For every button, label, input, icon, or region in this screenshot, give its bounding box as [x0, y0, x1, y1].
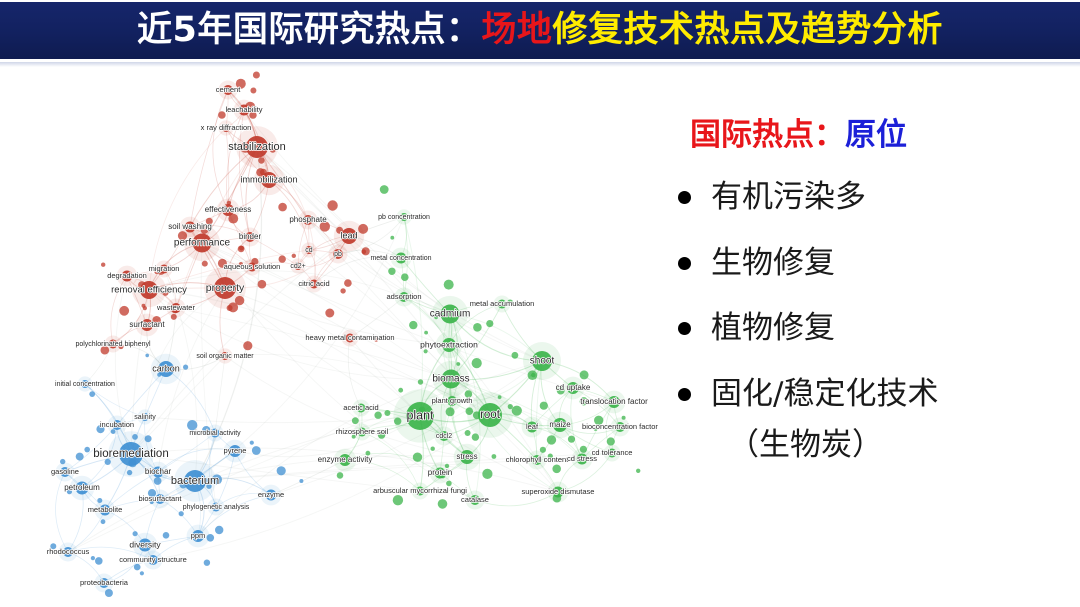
bullet-dot-icon: [678, 257, 691, 270]
network-node-minor: [388, 268, 395, 275]
bullet-label: 固化/稳定化技术: [711, 378, 938, 411]
network-node-label: community structure: [119, 555, 187, 564]
network-node-minor: [636, 469, 640, 473]
network-node-minor: [390, 236, 394, 240]
network-node-label: petroleum: [64, 483, 100, 492]
network-node-minor: [89, 391, 95, 397]
network-node-label: bioconcentration factor: [582, 422, 658, 431]
network-node-minor: [401, 273, 409, 281]
network-node-label: biochar: [145, 467, 172, 476]
network-node-minor: [444, 280, 454, 290]
network-node-minor: [344, 279, 352, 287]
network-node-label: rhizosphere soil: [336, 427, 389, 436]
network-node-label: bioremediation: [93, 448, 168, 460]
network-node-label: plant: [406, 408, 434, 422]
network-node-label: maize: [549, 420, 571, 429]
network-node-label: enzyme: [258, 490, 284, 499]
title-text: 近5年国际研究热点：场地修复技术热点及趋势分析: [137, 13, 943, 48]
network-node-minor: [580, 370, 589, 379]
network-node-minor: [179, 511, 184, 516]
network-node-label: effectiveness: [205, 205, 252, 214]
network-node-label: aqueous solution: [224, 262, 281, 271]
network-node-minor: [252, 446, 261, 455]
bullet-dot-icon: [678, 388, 691, 401]
network-node-label: stabilization: [228, 141, 285, 153]
network-node-label: salinity: [134, 414, 156, 421]
network-node-minor: [540, 402, 548, 410]
network-node-minor: [325, 309, 334, 318]
network-node-label: rhodococcus: [47, 547, 90, 556]
network-node-minor: [258, 280, 267, 289]
network-node-minor: [482, 469, 492, 479]
network-node-label: cd: [305, 247, 313, 254]
title-banner: 近5年国际研究热点：场地修复技术热点及趋势分析: [0, 0, 1080, 62]
network-node-label: arbuscular mycorrhizal fungi: [373, 486, 467, 495]
network-node-label: phytoextraction: [420, 339, 478, 349]
network-node-label: cadmium: [430, 309, 471, 320]
network-node-label: cd uptake: [556, 383, 591, 392]
keyword-network-map: cementleachabilityx ray diffractionstabi…: [20, 68, 680, 603]
network-node-minor: [337, 472, 344, 479]
network-node-label: ppm: [191, 531, 206, 540]
network-edge: [176, 308, 451, 379]
network-node-label: removal efficiency: [111, 285, 187, 296]
network-node-label: wastewater: [156, 303, 195, 312]
bullet-label: 植物修复: [711, 312, 835, 345]
network-node-label: cd2+: [290, 263, 305, 270]
network-node-label: gasoline: [51, 467, 79, 476]
network-node-minor: [438, 499, 448, 509]
network-node-label: microbial activity: [189, 430, 241, 437]
network-node-label: phylogenetic analysis: [183, 504, 250, 511]
network-node-minor: [134, 564, 141, 571]
hotspot-panel: 国际热点：原位 有机污染多 生物修复 植物修复 固化/稳定化技术 （生物炭）: [672, 120, 1072, 550]
network-node-label: cd tolerance: [592, 448, 633, 457]
bullet-label: 生物修复: [711, 247, 835, 280]
network-node-label: heavy metal contamination: [305, 333, 394, 342]
network-node-minor: [374, 412, 381, 419]
network-node-minor: [424, 349, 428, 353]
network-node-label: diversity: [129, 539, 161, 549]
network-node-label: cd stress: [567, 454, 597, 463]
network-node-minor: [362, 249, 367, 254]
network-node-minor: [202, 261, 208, 267]
title-segment-white: 近5年国际研究热点：: [137, 10, 481, 50]
network-node-minor: [607, 437, 615, 445]
banner-underline: [0, 62, 1080, 67]
bullet-label: 有机污染多: [711, 181, 866, 214]
network-node-label: leaf: [526, 422, 539, 431]
network-node-minor: [133, 531, 138, 536]
network-node-label: translocation factor: [580, 397, 648, 406]
network-node-minor: [340, 288, 345, 293]
network-node-minor: [204, 560, 210, 566]
network-edge: [257, 147, 558, 492]
title-segment-red: 场地: [481, 10, 552, 50]
network-node-minor: [409, 321, 417, 329]
hotspot-heading-label: 国际热点：: [690, 117, 845, 153]
network-node-minor: [187, 420, 197, 430]
network-node-label: biosurfactant: [139, 494, 183, 503]
network-node-label: acetic acid: [343, 403, 378, 412]
network-node-minor: [215, 526, 223, 534]
network-node-label: citric acid: [298, 279, 329, 288]
network-node-minor: [243, 341, 252, 350]
network-node-label: property: [206, 282, 245, 294]
network-node-label: biomass: [432, 374, 469, 385]
network-node-minor: [278, 203, 287, 212]
hotspot-heading-value: 原位: [845, 117, 907, 153]
network-node-label: binder: [239, 232, 262, 241]
network-node-minor: [472, 358, 482, 368]
network-node-minor: [119, 306, 129, 316]
network-node-minor: [95, 557, 103, 565]
network-node-minor: [413, 453, 422, 462]
network-node-minor: [472, 433, 479, 440]
network-node-minor: [568, 436, 575, 443]
network-node-minor: [352, 417, 359, 424]
network-node-label: leachability: [225, 105, 262, 114]
network-node-label: pb: [334, 251, 342, 258]
network-node-label: pyrene: [224, 446, 247, 455]
network-node-label: performance: [174, 238, 231, 249]
network-node-minor: [492, 454, 497, 459]
network-node-minor: [238, 246, 245, 253]
network-node-label: protein: [428, 468, 452, 477]
network-node-minor: [486, 320, 493, 327]
network-node-label: pb concentration: [378, 214, 430, 221]
network-svg: cementleachabilityx ray diffractionstabi…: [20, 68, 680, 603]
network-node-minor: [380, 185, 389, 194]
network-node-minor: [393, 495, 403, 505]
list-item: 生物修复: [678, 247, 1072, 280]
network-node-label: migration: [149, 264, 180, 273]
network-node-minor: [327, 200, 337, 210]
network-node-label: carbon: [152, 363, 180, 373]
network-node-label: plant growth: [432, 396, 473, 405]
network-node-minor: [431, 447, 435, 451]
network-node-label: x ray diffraction: [201, 123, 252, 132]
bullet-dot-icon: [678, 322, 691, 335]
network-node-minor: [473, 323, 482, 332]
network-node-label: cement: [216, 85, 242, 94]
list-item: 植物修复: [678, 312, 1072, 345]
network-node-minor: [418, 379, 423, 384]
network-node-minor: [384, 410, 390, 416]
bullet-dot-icon: [678, 191, 691, 204]
network-node-label: enzyme activity: [318, 455, 373, 464]
network-node-minor: [163, 532, 170, 539]
network-node-label: immobilization: [240, 174, 297, 184]
network-node-minor: [277, 466, 286, 475]
network-node-label: soil washing: [168, 222, 212, 231]
network-node-minor: [140, 571, 144, 575]
list-item: 固化/稳定化技术: [678, 378, 1072, 411]
network-node-minor: [552, 465, 561, 474]
network-node-label: surfactant: [129, 320, 165, 329]
network-node-label: chlorophyll content: [506, 455, 569, 464]
network-node-label: metabolite: [88, 505, 123, 514]
network-node-label: proteobacteria: [80, 578, 129, 587]
network-node-label: root: [480, 409, 501, 421]
network-node-label: adsorption: [386, 292, 421, 301]
network-label-layer: cementleachabilityx ray diffractionstabi…: [47, 85, 659, 587]
network-node-minor: [512, 406, 522, 416]
network-node-minor: [250, 441, 254, 445]
network-node-minor: [253, 72, 260, 79]
network-node-label: shoot: [530, 356, 555, 367]
network-node-label: polychlorinated biphenyl: [75, 341, 151, 348]
network-node-minor: [84, 447, 90, 453]
network-node-minor: [424, 331, 428, 335]
network-node-label: superoxide dismutase: [522, 487, 595, 496]
network-node-minor: [76, 453, 84, 461]
network-node-label: stress: [456, 452, 477, 461]
network-node-minor: [398, 388, 403, 393]
network-node-label: phosphate: [289, 215, 327, 224]
network-node-label: cdcl2: [436, 433, 452, 440]
network-edge: [85, 384, 145, 417]
list-item: 有机污染多: [678, 181, 1072, 214]
network-node-label: metal accumulation: [470, 299, 535, 308]
network-node-minor: [512, 352, 519, 359]
hotspot-heading: 国际热点：原位: [690, 120, 1072, 151]
network-node-label: soil organic matter: [196, 353, 254, 360]
network-node-minor: [465, 430, 471, 436]
title-segment-yellow: 修复技术热点及趋势分析: [552, 10, 943, 50]
bullet-sublabel: （生物炭）: [728, 429, 1072, 462]
network-node-label: catalase: [461, 495, 489, 504]
network-node-label: incubation: [100, 420, 134, 429]
network-node-minor: [91, 556, 95, 560]
network-node-label: initial concentration: [55, 381, 115, 388]
network-node-minor: [183, 365, 188, 370]
network-node-label: metal concentration: [370, 255, 431, 262]
network-node-label: degradation: [107, 271, 147, 280]
network-node-label: bacterium: [171, 475, 219, 487]
network-node-minor: [299, 479, 303, 483]
network-node-label: lead: [340, 230, 357, 240]
network-node-minor: [101, 263, 105, 267]
network-node-minor: [250, 88, 256, 94]
network-node-minor: [292, 254, 296, 258]
network-node-minor: [145, 354, 149, 358]
